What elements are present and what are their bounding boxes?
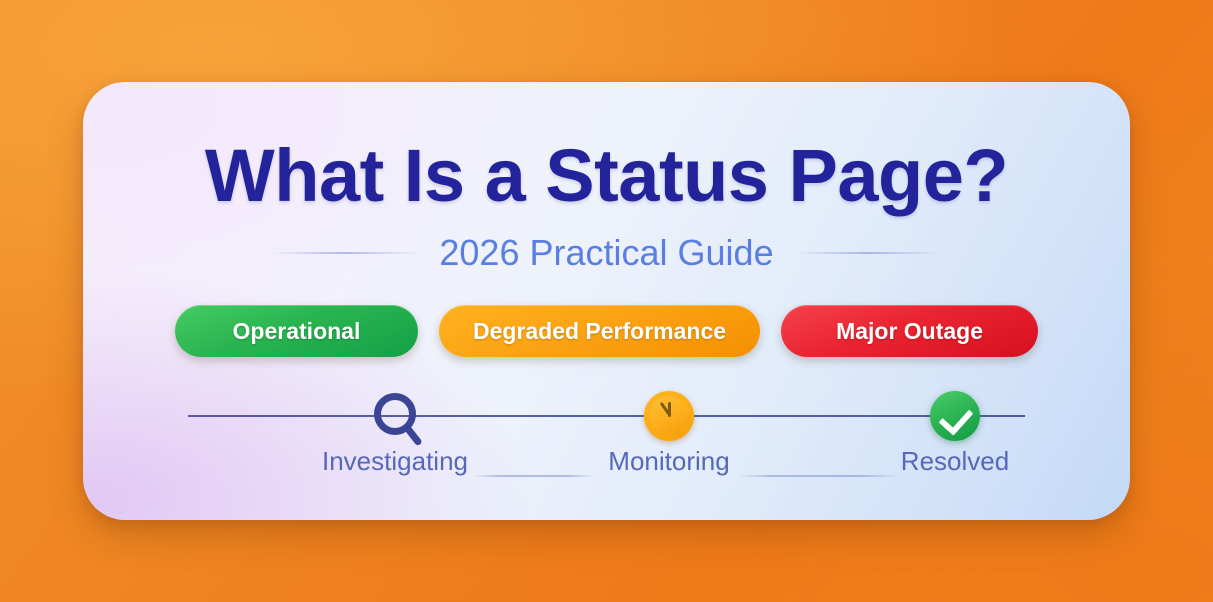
status-badge-label: Operational	[233, 318, 361, 345]
poster-canvas: What Is a Status Page? 2026 Practical Gu…	[0, 0, 1213, 602]
status-badge-label: Degraded Performance	[473, 318, 726, 345]
status-badge-row: Operational Degraded Performance Major O…	[83, 305, 1130, 357]
status-badge-label: Major Outage	[836, 318, 983, 345]
status-badge-outage[interactable]: Major Outage	[781, 305, 1038, 357]
subtitle-rule-right	[794, 252, 942, 254]
timeline-step-monitoring[interactable]: Monitoring	[569, 387, 769, 476]
clock-icon	[569, 387, 769, 445]
magnifier-icon	[295, 387, 495, 445]
subtitle-rule-left	[271, 252, 419, 254]
status-badge-degraded[interactable]: Degraded Performance	[439, 305, 760, 357]
page-title: What Is a Status Page?	[83, 139, 1130, 213]
check-circle-icon	[855, 387, 1055, 445]
timeline-step-investigating[interactable]: Investigating	[295, 387, 495, 476]
page-subtitle: 2026 Practical Guide	[439, 232, 773, 273]
timeline-step-label: Investigating	[295, 447, 495, 476]
timeline-step-label: Resolved	[855, 447, 1055, 476]
status-badge-operational[interactable]: Operational	[175, 305, 418, 357]
timeline-step-resolved[interactable]: Resolved	[855, 387, 1055, 476]
title-block: What Is a Status Page?	[83, 139, 1130, 213]
incident-timeline: Investigating Monitoring Resolved	[83, 387, 1130, 502]
subtitle-block: 2026 Practical Guide	[83, 232, 1130, 273]
status-page-card: What Is a Status Page? 2026 Practical Gu…	[83, 82, 1130, 520]
timeline-step-label: Monitoring	[569, 447, 769, 476]
